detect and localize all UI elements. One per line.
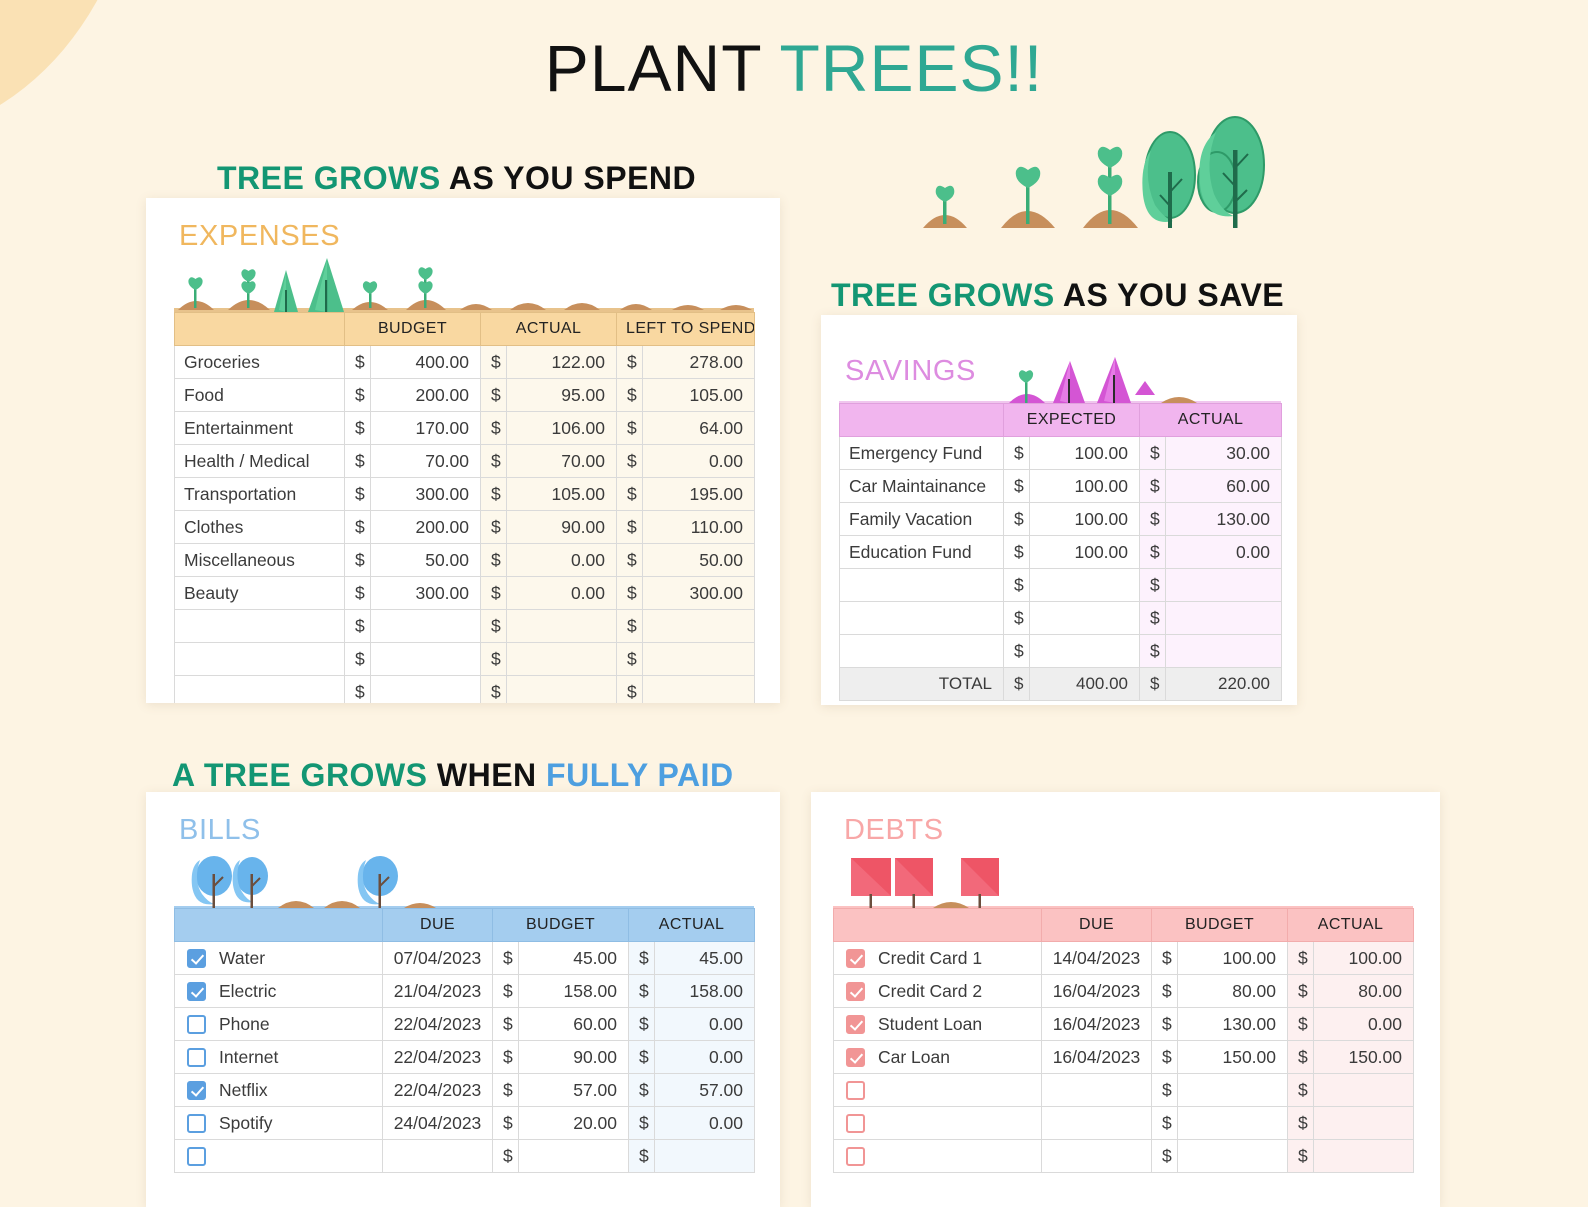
expenses-actual-value: 106.00 — [507, 412, 617, 445]
bills-budget-value: 45.00 — [519, 942, 629, 975]
debts-budget-value: 150.00 — [1178, 1041, 1288, 1074]
debts-row-name-cell — [834, 1107, 1042, 1140]
debts-budget-value: 130.00 — [1178, 1008, 1288, 1041]
table-row[interactable]: Spotify24/04/2023$20.00$0.00 — [175, 1107, 755, 1140]
table-row[interactable]: $$ — [840, 635, 1282, 668]
savings-expected-value: 100.00 — [1030, 536, 1140, 569]
bills-paid-checkbox[interactable] — [187, 1081, 206, 1100]
expenses-left-currency: $ — [617, 412, 643, 445]
bills-budget-currency: $ — [493, 975, 519, 1008]
table-row[interactable]: Health / Medical$70.00$70.00$0.00 — [175, 445, 755, 478]
expenses-left-value — [643, 643, 755, 676]
expenses-actual-currency: $ — [481, 544, 507, 577]
debts-row-name-cell: Car Loan — [834, 1041, 1042, 1074]
savings-row-name — [840, 569, 1004, 602]
debts-due: 14/04/2023 — [1042, 942, 1152, 975]
expenses-row-name: Groceries — [175, 346, 345, 379]
savings-row-name: Car Maintainance — [840, 470, 1004, 503]
bills-due — [383, 1140, 493, 1173]
expenses-budget-value: 300.00 — [371, 478, 481, 511]
debts-actual-value: 100.00 — [1314, 942, 1414, 975]
expenses-left-currency: $ — [617, 577, 643, 610]
bills-actual-value: 0.00 — [655, 1041, 755, 1074]
expenses-left-currency: $ — [617, 445, 643, 478]
savings-expected-value: 100.00 — [1030, 437, 1140, 470]
bills-due: 22/04/2023 — [383, 1041, 493, 1074]
expenses-budget-value: 170.00 — [371, 412, 481, 445]
debts-card: DEBTS DUE BUDGET ACTUAL — [811, 792, 1440, 1207]
savings-expected-currency: $ — [1004, 470, 1030, 503]
debts-actual-currency: $ — [1288, 1041, 1314, 1074]
savings-actual-currency: $ — [1140, 437, 1166, 470]
savings-actual-value: 60.00 — [1166, 470, 1282, 503]
debts-budget-value: 80.00 — [1178, 975, 1288, 1008]
savings-actual-currency: $ — [1140, 536, 1166, 569]
bills-paid-checkbox[interactable] — [187, 982, 206, 1001]
expenses-row-name — [175, 676, 345, 704]
table-row[interactable]: Internet22/04/2023$90.00$0.00 — [175, 1041, 755, 1074]
expenses-actual-value: 95.00 — [507, 379, 617, 412]
expenses-left-currency: $ — [617, 379, 643, 412]
debts-due: 16/04/2023 — [1042, 1041, 1152, 1074]
debts-row-name: Credit Card 1 — [878, 948, 982, 968]
table-row[interactable]: Netflix22/04/2023$57.00$57.00 — [175, 1074, 755, 1107]
debts-budget-value — [1178, 1140, 1288, 1173]
bills-actual-value — [655, 1140, 755, 1173]
bills-row-name-cell: Electric — [175, 975, 383, 1008]
savings-actual-currency: $ — [1140, 503, 1166, 536]
table-row[interactable]: Credit Card 216/04/2023$80.00$80.00 — [834, 975, 1414, 1008]
expenses-actual-currency: $ — [481, 577, 507, 610]
table-row[interactable]: Car Loan16/04/2023$150.00$150.00 — [834, 1041, 1414, 1074]
savings-actual-currency: $ — [1140, 602, 1166, 635]
table-row[interactable]: Electric21/04/2023$158.00$158.00 — [175, 975, 755, 1008]
savings-actual-value — [1166, 602, 1282, 635]
savings-expected-currency: $ — [1004, 536, 1030, 569]
bills-row-name: Netflix — [219, 1080, 268, 1100]
bills-budget-currency: $ — [493, 1008, 519, 1041]
expenses-row-name: Health / Medical — [175, 445, 345, 478]
table-row[interactable]: Clothes$200.00$90.00$110.00 — [175, 511, 755, 544]
debts-budget-value — [1178, 1074, 1288, 1107]
expenses-left-value — [643, 676, 755, 704]
bills-plants-icon — [174, 850, 754, 912]
savings-actual-value: 130.00 — [1166, 503, 1282, 536]
expenses-left-currency: $ — [617, 676, 643, 704]
debts-actual-currency: $ — [1288, 1107, 1314, 1140]
debts-due — [1042, 1140, 1152, 1173]
bills-col-due: DUE — [383, 909, 493, 942]
debts-paid-checkbox[interactable] — [846, 1114, 865, 1133]
expenses-budget-value — [371, 610, 481, 643]
debts-due: 16/04/2023 — [1042, 1008, 1152, 1041]
page-title: PLANT TREES!! — [0, 30, 1588, 106]
savings-expected-currency: $ — [1004, 437, 1030, 470]
heading-save-accent: TREE GROWS — [831, 277, 1055, 313]
bills-header-row: DUE BUDGET ACTUAL — [175, 909, 755, 942]
bills-budget-currency: $ — [493, 1041, 519, 1074]
poster-root: PLANT TREES!! TREE GROWS AS YOU SPEND EX… — [0, 0, 1588, 1207]
bills-col-actual: ACTUAL — [629, 909, 755, 942]
expenses-col-name — [175, 313, 345, 346]
bills-budget-currency: $ — [493, 942, 519, 975]
debts-title: DEBTS — [844, 814, 944, 847]
bills-budget-value: 60.00 — [519, 1008, 629, 1041]
savings-actual-currency: $ — [1140, 470, 1166, 503]
debts-budget-currency: $ — [1152, 1041, 1178, 1074]
table-row[interactable]: $$$ — [175, 610, 755, 643]
expenses-left-value: 110.00 — [643, 511, 755, 544]
savings-card: SAVINGS EXPECTED ACTUAL Em — [821, 315, 1297, 705]
expenses-row-name: Entertainment — [175, 412, 345, 445]
savings-row-name: Family Vacation — [840, 503, 1004, 536]
bills-actual-value: 45.00 — [655, 942, 755, 975]
debts-actual-currency: $ — [1288, 1008, 1314, 1041]
expenses-left-value: 300.00 — [643, 577, 755, 610]
debts-row-name-cell: Credit Card 1 — [834, 942, 1042, 975]
debts-due: 16/04/2023 — [1042, 975, 1152, 1008]
expenses-row-name: Clothes — [175, 511, 345, 544]
debts-actual-currency: $ — [1288, 1074, 1314, 1107]
bills-budget-currency: $ — [493, 1074, 519, 1107]
savings-actual-value: 30.00 — [1166, 437, 1282, 470]
expenses-actual-value — [507, 643, 617, 676]
debts-plants-icon — [833, 850, 1413, 912]
bills-actual-currency: $ — [629, 975, 655, 1008]
bills-row-name: Water — [219, 948, 265, 968]
expenses-actual-value: 122.00 — [507, 346, 617, 379]
table-row[interactable]: Car Maintainance$100.00$60.00 — [840, 470, 1282, 503]
savings-row-name: Education Fund — [840, 536, 1004, 569]
expenses-actual-currency: $ — [481, 643, 507, 676]
expenses-left-value: 195.00 — [643, 478, 755, 511]
savings-header-row: EXPECTED ACTUAL — [840, 404, 1282, 437]
table-row[interactable]: $$ — [840, 569, 1282, 602]
savings-actual-value — [1166, 569, 1282, 602]
expenses-budget-value: 200.00 — [371, 379, 481, 412]
expenses-left-currency: $ — [617, 610, 643, 643]
savings-expected-value — [1030, 635, 1140, 668]
table-row[interactable]: Phone22/04/2023$60.00$0.00 — [175, 1008, 755, 1041]
table-row[interactable]: Credit Card 114/04/2023$100.00$100.00 — [834, 942, 1414, 975]
debts-budget-currency: $ — [1152, 1008, 1178, 1041]
expenses-budget-currency: $ — [345, 412, 371, 445]
debts-actual-currency: $ — [1288, 942, 1314, 975]
heading-paid-mid: WHEN — [427, 757, 546, 793]
debts-budget-currency: $ — [1152, 1140, 1178, 1173]
heading-paid-accent: A TREE GROWS — [172, 757, 427, 793]
expenses-budget-value: 50.00 — [371, 544, 481, 577]
bills-row-name: Phone — [219, 1014, 270, 1034]
expenses-actual-value — [507, 676, 617, 704]
debts-actual-value — [1314, 1140, 1414, 1173]
debts-paid-checkbox[interactable] — [846, 1147, 865, 1166]
expenses-actual-currency: $ — [481, 445, 507, 478]
bills-col-name — [175, 909, 383, 942]
savings-expected-currency: $ — [1004, 569, 1030, 602]
page-title-accent: TREES!! — [779, 31, 1043, 105]
bills-due: 07/04/2023 — [383, 942, 493, 975]
expenses-row-name: Food — [175, 379, 345, 412]
savings-actual-value — [1166, 635, 1282, 668]
debts-due — [1042, 1074, 1152, 1107]
expenses-budget-currency: $ — [345, 511, 371, 544]
table-row[interactable]: $$ — [834, 1107, 1414, 1140]
debts-col-actual: ACTUAL — [1288, 909, 1414, 942]
bills-row-name: Spotify — [219, 1113, 273, 1133]
bills-actual-value: 0.00 — [655, 1107, 755, 1140]
bills-budget-currency: $ — [493, 1140, 519, 1173]
bills-budget-currency: $ — [493, 1107, 519, 1140]
expenses-actual-currency: $ — [481, 511, 507, 544]
debts-col-budget: BUDGET — [1152, 909, 1288, 942]
bills-paid-checkbox[interactable] — [187, 1114, 206, 1133]
expenses-row-name — [175, 610, 345, 643]
expenses-budget-currency: $ — [345, 610, 371, 643]
expenses-row-name: Beauty — [175, 577, 345, 610]
debts-paid-checkbox[interactable] — [846, 949, 865, 968]
expenses-budget-currency: $ — [345, 346, 371, 379]
table-row[interactable]: $$ — [834, 1074, 1414, 1107]
savings-expected-value: 100.00 — [1030, 470, 1140, 503]
bills-row-name-cell: Internet — [175, 1041, 383, 1074]
debts-budget-currency: $ — [1152, 942, 1178, 975]
savings-expected-value: 100.00 — [1030, 503, 1140, 536]
savings-title: SAVINGS — [845, 355, 976, 388]
expenses-budget-currency: $ — [345, 544, 371, 577]
savings-col-expected: EXPECTED — [1004, 404, 1140, 437]
expenses-actual-value: 0.00 — [507, 544, 617, 577]
savings-expected-currency: $ — [1004, 635, 1030, 668]
table-row[interactable]: Food$200.00$95.00$105.00 — [175, 379, 755, 412]
table-row[interactable]: Student Loan16/04/2023$130.00$0.00 — [834, 1008, 1414, 1041]
expenses-actual-currency: $ — [481, 610, 507, 643]
debts-row-name: Credit Card 2 — [878, 981, 982, 1001]
table-row[interactable]: Education Fund$100.00$0.00 — [840, 536, 1282, 569]
bills-row-name: Internet — [219, 1047, 278, 1067]
bills-row-name-cell: Phone — [175, 1008, 383, 1041]
expenses-left-currency: $ — [617, 511, 643, 544]
expenses-budget-currency: $ — [345, 379, 371, 412]
expenses-left-currency: $ — [617, 478, 643, 511]
expenses-left-currency: $ — [617, 544, 643, 577]
bills-budget-value: 20.00 — [519, 1107, 629, 1140]
expenses-left-value — [643, 610, 755, 643]
expenses-row-name: Miscellaneous — [175, 544, 345, 577]
debts-row-name-cell — [834, 1140, 1042, 1173]
heading-save: TREE GROWS AS YOU SAVE — [831, 277, 1284, 314]
bills-actual-currency: $ — [629, 1074, 655, 1107]
table-row[interactable]: Family Vacation$100.00$130.00 — [840, 503, 1282, 536]
expenses-budget-value: 200.00 — [371, 511, 481, 544]
bills-card: BILLS DUE BUDGE — [146, 792, 780, 1207]
debts-budget-value: 100.00 — [1178, 942, 1288, 975]
table-row[interactable]: Miscellaneous$50.00$0.00$50.00 — [175, 544, 755, 577]
expenses-header-row: BUDGET ACTUAL LEFT TO SPEND — [175, 313, 755, 346]
bills-actual-currency: $ — [629, 942, 655, 975]
expenses-actual-currency: $ — [481, 676, 507, 704]
savings-row-name — [840, 635, 1004, 668]
debts-paid-checkbox[interactable] — [846, 982, 865, 1001]
table-row[interactable]: $$ — [175, 1140, 755, 1173]
savings-col-name — [840, 404, 1004, 437]
expenses-actual-value: 70.00 — [507, 445, 617, 478]
expenses-actual-value: 105.00 — [507, 478, 617, 511]
savings-total-label: TOTAL — [840, 668, 1004, 701]
heading-spend-rest: AS YOU SPEND — [441, 160, 696, 196]
bills-row-name-cell — [175, 1140, 383, 1173]
debts-actual-currency: $ — [1288, 1140, 1314, 1173]
expenses-col-left: LEFT TO SPEND — [617, 313, 755, 346]
debts-row-name-cell: Student Loan — [834, 1008, 1042, 1041]
expenses-budget-currency: $ — [345, 445, 371, 478]
savings-expected-value — [1030, 602, 1140, 635]
bills-budget-value — [519, 1140, 629, 1173]
expenses-actual-currency: $ — [481, 379, 507, 412]
bills-actual-currency: $ — [629, 1008, 655, 1041]
debts-budget-currency: $ — [1152, 1074, 1178, 1107]
page-title-black: PLANT — [545, 31, 780, 105]
savings-table: EXPECTED ACTUAL Emergency Fund$100.00$30… — [839, 403, 1282, 701]
table-row[interactable]: $$$ — [175, 676, 755, 704]
expenses-col-actual: ACTUAL — [481, 313, 617, 346]
bills-paid-checkbox[interactable] — [187, 949, 206, 968]
table-row[interactable]: Groceries$400.00$122.00$278.00 — [175, 346, 755, 379]
bills-budget-value: 90.00 — [519, 1041, 629, 1074]
savings-total-actual-value: 220.00 — [1166, 668, 1282, 701]
expenses-actual-value — [507, 610, 617, 643]
expenses-actual-currency: $ — [481, 346, 507, 379]
bills-due: 21/04/2023 — [383, 975, 493, 1008]
expenses-budget-currency: $ — [345, 577, 371, 610]
expenses-row-name: Transportation — [175, 478, 345, 511]
expenses-left-value: 105.00 — [643, 379, 755, 412]
table-row[interactable]: Water07/04/2023$45.00$45.00 — [175, 942, 755, 975]
debts-actual-value — [1314, 1074, 1414, 1107]
debts-header-row: DUE BUDGET ACTUAL — [834, 909, 1414, 942]
table-row[interactable]: Transportation$300.00$105.00$195.00 — [175, 478, 755, 511]
heading-paid: A TREE GROWS WHEN FULLY PAID — [172, 757, 734, 794]
expenses-row-name — [175, 643, 345, 676]
savings-actual-currency: $ — [1140, 635, 1166, 668]
bills-paid-checkbox[interactable] — [187, 1015, 206, 1034]
expenses-budget-value — [371, 643, 481, 676]
expenses-col-budget: BUDGET — [345, 313, 481, 346]
debts-row-name-cell: Credit Card 2 — [834, 975, 1042, 1008]
expenses-budget-value: 300.00 — [371, 577, 481, 610]
debts-actual-value: 0.00 — [1314, 1008, 1414, 1041]
table-row[interactable]: Beauty$300.00$0.00$300.00 — [175, 577, 755, 610]
bills-budget-value: 57.00 — [519, 1074, 629, 1107]
savings-expected-currency: $ — [1004, 602, 1030, 635]
debts-budget-currency: $ — [1152, 975, 1178, 1008]
bills-actual-currency: $ — [629, 1140, 655, 1173]
expenses-actual-value: 0.00 — [507, 577, 617, 610]
expenses-actual-currency: $ — [481, 412, 507, 445]
bills-table: DUE BUDGET ACTUAL Water07/04/2023$45.00$… — [174, 908, 755, 1173]
table-row[interactable]: $$ — [834, 1140, 1414, 1173]
debts-actual-value — [1314, 1107, 1414, 1140]
bills-actual-value: 158.00 — [655, 975, 755, 1008]
expenses-actual-value: 90.00 — [507, 511, 617, 544]
bills-due: 24/04/2023 — [383, 1107, 493, 1140]
savings-total-actual-currency: $ — [1140, 668, 1166, 701]
table-row[interactable]: Emergency Fund$100.00$30.00 — [840, 437, 1282, 470]
savings-total-expected-currency: $ — [1004, 668, 1030, 701]
savings-total-expected-value: 400.00 — [1030, 668, 1140, 701]
expenses-left-value: 64.00 — [643, 412, 755, 445]
expenses-left-value: 0.00 — [643, 445, 755, 478]
savings-actual-value: 0.00 — [1166, 536, 1282, 569]
expenses-budget-value — [371, 676, 481, 704]
debts-paid-checkbox[interactable] — [846, 1015, 865, 1034]
savings-row-name — [840, 602, 1004, 635]
expenses-left-currency: $ — [617, 643, 643, 676]
debts-actual-value: 150.00 — [1314, 1041, 1414, 1074]
bills-title: BILLS — [179, 814, 261, 847]
expenses-left-value: 278.00 — [643, 346, 755, 379]
bills-paid-checkbox[interactable] — [187, 1048, 206, 1067]
expenses-budget-value: 400.00 — [371, 346, 481, 379]
savings-actual-currency: $ — [1140, 569, 1166, 602]
table-row[interactable]: Entertainment$170.00$106.00$64.00 — [175, 412, 755, 445]
heading-spend: TREE GROWS AS YOU SPEND — [217, 160, 696, 197]
bills-actual-currency: $ — [629, 1041, 655, 1074]
expenses-table: BUDGET ACTUAL LEFT TO SPEND Groceries$40… — [174, 312, 755, 703]
expenses-budget-currency: $ — [345, 643, 371, 676]
debts-row-name: Car Loan — [878, 1047, 950, 1067]
expenses-budget-value: 70.00 — [371, 445, 481, 478]
debts-paid-checkbox[interactable] — [846, 1048, 865, 1067]
savings-row-name: Emergency Fund — [840, 437, 1004, 470]
savings-total-row: TOTAL$400.00$220.00 — [840, 668, 1282, 701]
table-row[interactable]: $$ — [840, 602, 1282, 635]
heading-save-rest: AS YOU SAVE — [1055, 277, 1284, 313]
expenses-actual-currency: $ — [481, 478, 507, 511]
bills-actual-value: 0.00 — [655, 1008, 755, 1041]
expenses-left-currency: $ — [617, 346, 643, 379]
bills-col-budget: BUDGET — [493, 909, 629, 942]
debts-col-name — [834, 909, 1042, 942]
savings-expected-currency: $ — [1004, 503, 1030, 536]
bills-due: 22/04/2023 — [383, 1074, 493, 1107]
heading-paid-blue: FULLY PAID — [546, 757, 734, 793]
debts-actual-value: 80.00 — [1314, 975, 1414, 1008]
bills-actual-currency: $ — [629, 1107, 655, 1140]
debts-row-name-cell — [834, 1074, 1042, 1107]
bills-actual-value: 57.00 — [655, 1074, 755, 1107]
bills-row-name-cell: Spotify — [175, 1107, 383, 1140]
debts-due — [1042, 1107, 1152, 1140]
debts-paid-checkbox[interactable] — [846, 1081, 865, 1100]
heading-spend-accent: TREE GROWS — [217, 160, 441, 196]
table-row[interactable]: $$$ — [175, 643, 755, 676]
debts-budget-value — [1178, 1107, 1288, 1140]
savings-expected-value — [1030, 569, 1140, 602]
bills-row-name-cell: Water — [175, 942, 383, 975]
bills-budget-value: 158.00 — [519, 975, 629, 1008]
debts-actual-currency: $ — [1288, 975, 1314, 1008]
bills-paid-checkbox[interactable] — [187, 1147, 206, 1166]
bills-row-name: Electric — [219, 981, 276, 1001]
expenses-budget-currency: $ — [345, 478, 371, 511]
debts-row-name: Student Loan — [878, 1014, 982, 1034]
expenses-plants-icon — [174, 256, 754, 316]
bills-row-name-cell: Netflix — [175, 1074, 383, 1107]
expenses-title: EXPENSES — [179, 220, 340, 253]
bills-due: 22/04/2023 — [383, 1008, 493, 1041]
debts-budget-currency: $ — [1152, 1107, 1178, 1140]
